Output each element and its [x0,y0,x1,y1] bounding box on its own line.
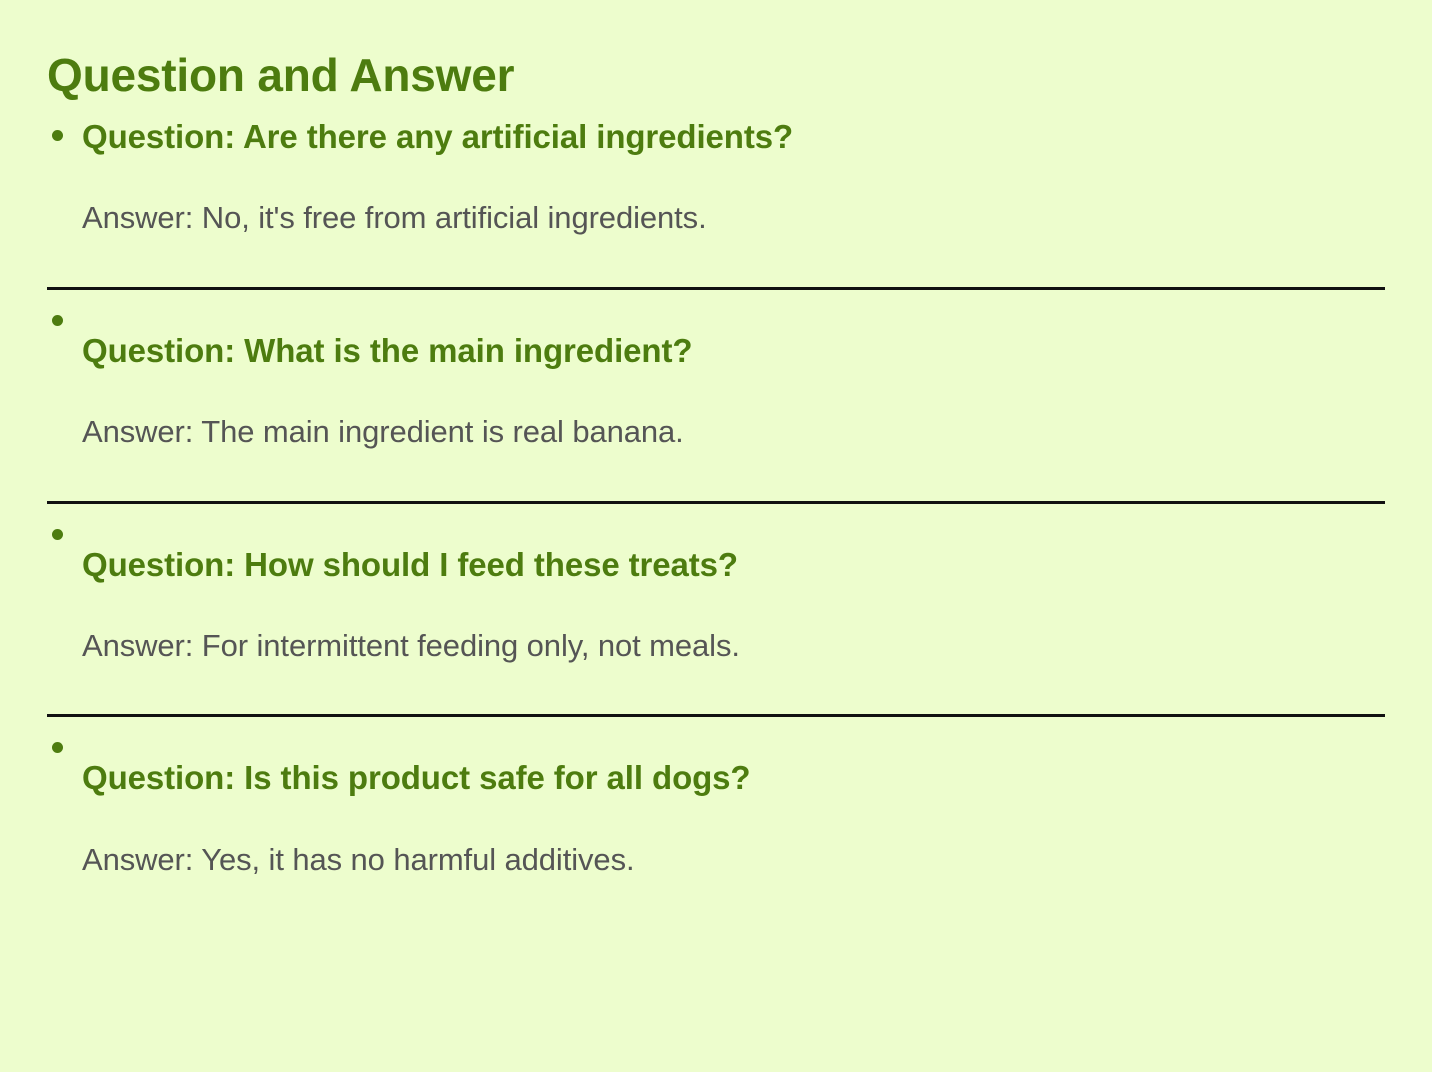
qa-answer: Answer: The main ingredient is real bana… [82,372,1385,452]
bullet-icon [52,315,63,326]
qa-item: Question: Is this product safe for all d… [47,717,1385,880]
qa-question: Question: What is the main ingredient? [82,290,1385,373]
bullet-icon [52,130,63,141]
qa-page: Question and Answer Question: Are there … [0,0,1432,1072]
bullet-icon [52,529,63,540]
qa-question: Question: Is this product safe for all d… [82,717,1385,800]
qa-item: Question: How should I feed these treats… [47,504,1385,718]
qa-question: Question: Are there any artificial ingre… [82,105,1385,159]
qa-answer: Answer: For intermittent feeding only, n… [82,586,1385,666]
qa-question: Question: How should I feed these treats… [82,504,1385,587]
qa-list: Question: Are there any artificial ingre… [47,105,1385,880]
page-title: Question and Answer [47,0,1385,105]
qa-item: Question: Are there any artificial ingre… [47,105,1385,290]
qa-answer: Answer: Yes, it has no harmful additives… [82,800,1385,880]
bullet-icon [52,742,63,753]
qa-item: Question: What is the main ingredient? A… [47,290,1385,504]
qa-answer: Answer: No, it's free from artificial in… [82,158,1385,238]
